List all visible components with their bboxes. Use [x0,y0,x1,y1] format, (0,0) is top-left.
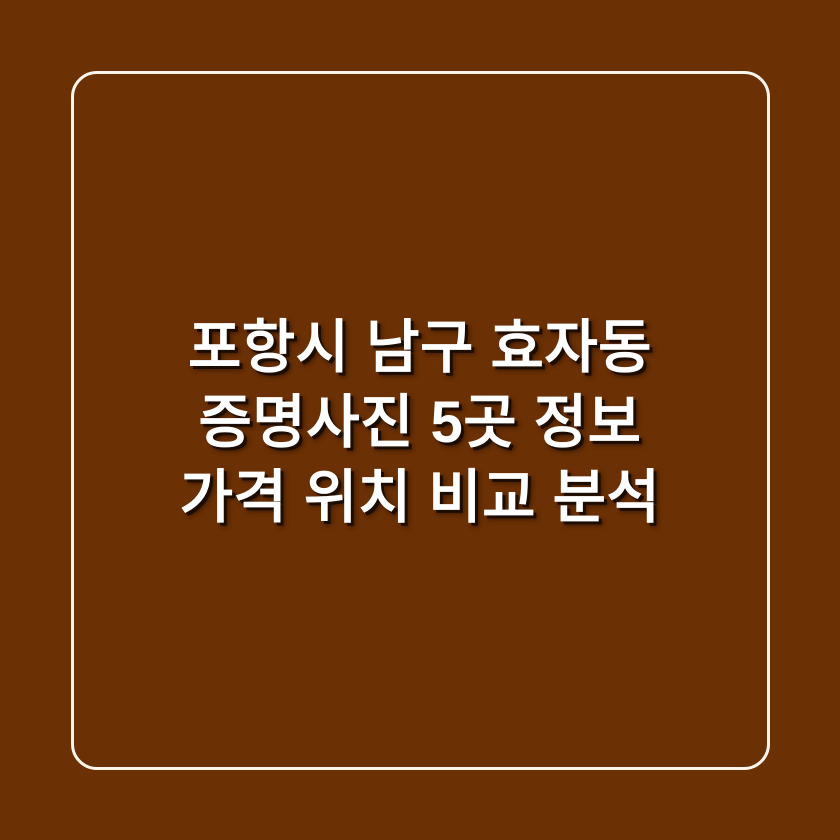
thumbnail-banner: 포항시 남구 효자동 증명사진 5곳 정보 가격 위치 비교 분석 [0,0,840,840]
title-line-2: 증명사진 5곳 정보 [198,385,641,460]
title-line-1: 포항시 남구 효자동 [188,310,652,385]
title-block: 포항시 남구 효자동 증명사진 5곳 정보 가격 위치 비교 분석 [70,310,770,535]
title-line-3: 가격 위치 비교 분석 [180,460,661,535]
